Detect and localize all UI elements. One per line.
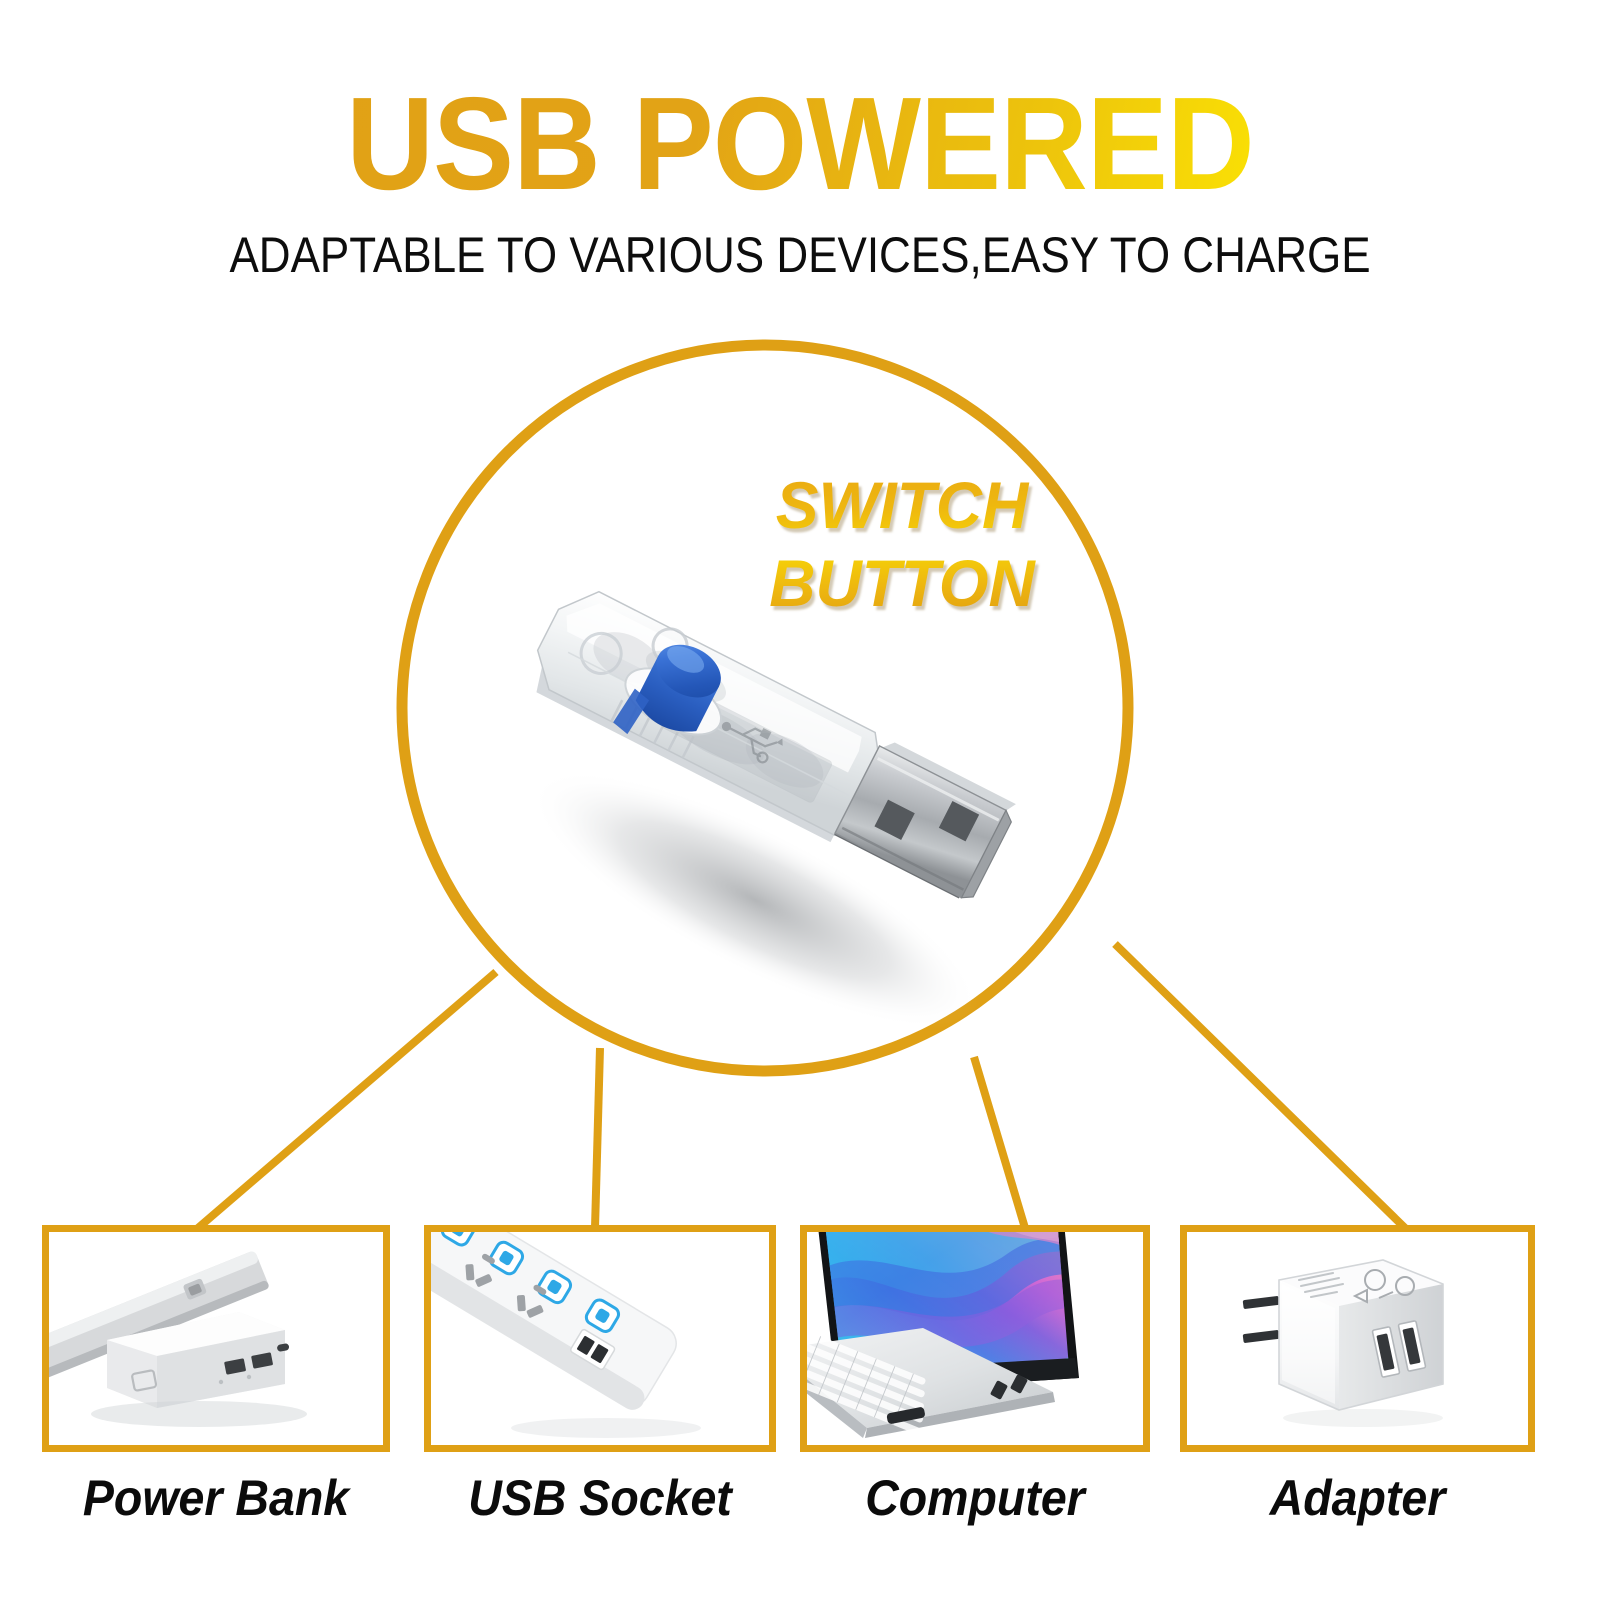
thumbnail-label-usb-socket: USB Socket (436, 1470, 763, 1526)
wall-charger-icon (1187, 1232, 1528, 1445)
power-bank-icon (49, 1232, 383, 1445)
laptop-icon (807, 1232, 1143, 1445)
thumbnail-computer[interactable] (800, 1225, 1150, 1452)
device-thumbnail-row: Power Bank (0, 0, 1600, 1600)
thumbnail-label-adapter: Adapter (1192, 1470, 1522, 1526)
thumbnail-adapter[interactable] (1180, 1225, 1535, 1452)
power-strip-icon (431, 1232, 769, 1445)
thumbnail-power-bank[interactable] (42, 1225, 390, 1452)
thumbnail-label-computer: Computer (812, 1470, 1138, 1526)
thumbnail-label-power-bank: Power Bank (54, 1470, 378, 1526)
adapter-body (1279, 1260, 1443, 1410)
thumbnail-usb-socket[interactable] (424, 1225, 776, 1452)
poster-canvas: USB POWERED ADAPTABLE TO VARIOUS DEVICES… (0, 0, 1600, 1600)
